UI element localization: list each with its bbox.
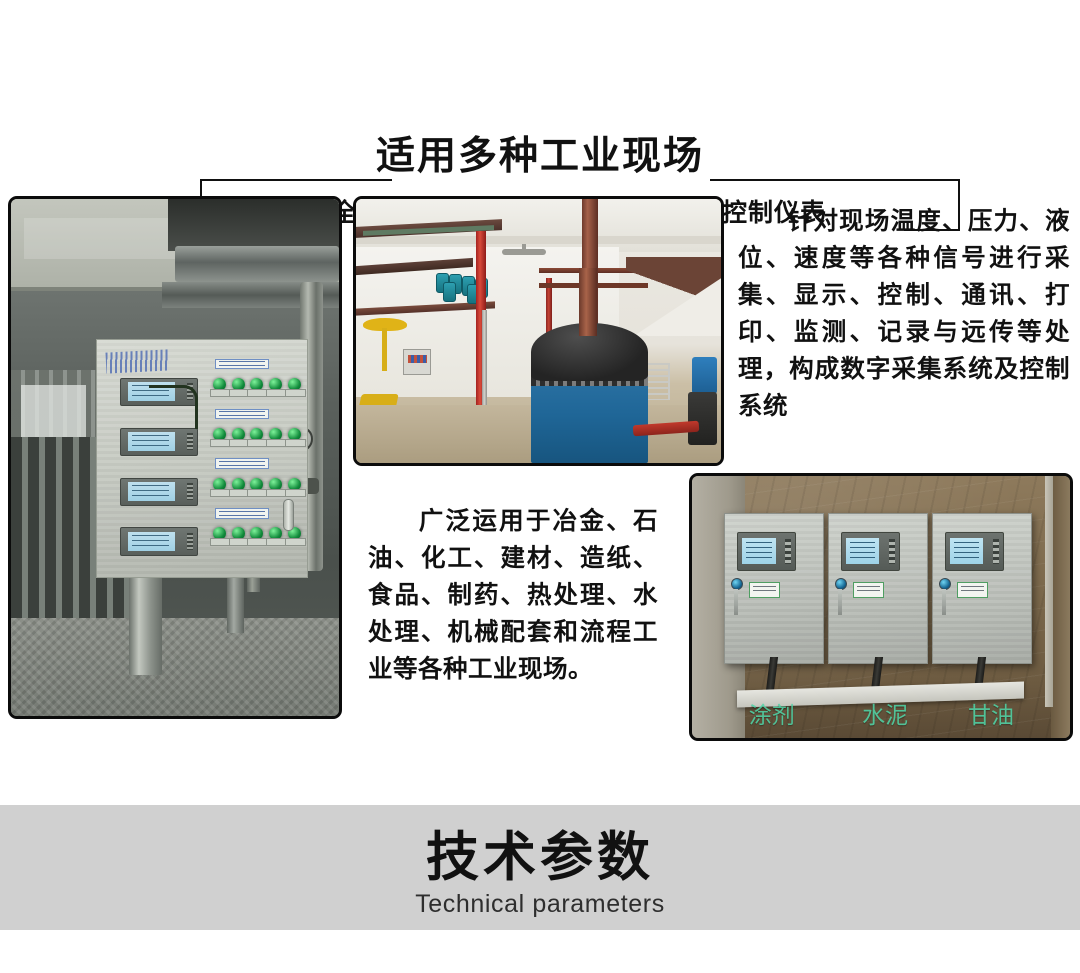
p1-indicator-lamp: [232, 527, 245, 540]
p1-handwritten-mark: [105, 350, 169, 375]
p3-paperless-recorder: [841, 532, 900, 571]
p1-indicator-lamp: [250, 378, 263, 391]
p3-chalk-text-middle: 水泥: [862, 696, 908, 730]
p1-indicator-lamp: [250, 478, 263, 491]
middle-description-text: 广泛运用于冶金、石油、化工、建材、造纸、食品、制药、热处理、水处理、机械配套和流…: [368, 508, 658, 683]
p3-right-wall-edge: [1051, 476, 1070, 738]
p2-junction-box: [403, 349, 431, 375]
p3-paperless-recorder: [945, 532, 1004, 571]
p2-ceiling-beam: [356, 236, 721, 244]
middle-description-paragraph: 广泛运用于冶金、石油、化工、建材、造纸、食品、制药、热处理、水处理、机械配套和流…: [368, 503, 658, 688]
p3-control-cabinet-3: [932, 513, 1032, 664]
p1-indicator-lamp: [288, 478, 301, 491]
tech-parameters-banner: 技术参数 Technical parameters: [0, 805, 1080, 930]
p1-indicator-lamp: [250, 428, 263, 441]
p1-nameplate-2: [215, 409, 269, 420]
p1-nameplate-3: [215, 458, 269, 469]
p3-right-post: [1045, 476, 1053, 707]
p3-key-lock-icon: [731, 578, 743, 590]
p3-key-lock-icon: [835, 578, 847, 590]
p1-lcd-instrument-3: [120, 478, 198, 506]
p3-cabinet-label: [957, 582, 988, 597]
p2-reactor-stack: [579, 268, 597, 337]
p1-indicator-lamp: [213, 527, 226, 540]
photo-chemical-plant-image: [356, 199, 721, 463]
p3-chalk-text-left: 涂剂: [749, 696, 795, 730]
p3-paperless-recorder: [737, 532, 796, 571]
p1-horizontal-pipe: [175, 246, 339, 282]
photo-panel-cabinet: [8, 196, 342, 719]
p1-indicator-lamp: [213, 478, 226, 491]
p1-nameplate-1: [215, 359, 269, 370]
p1-nameplate-4: [215, 508, 269, 519]
p1-cable: [149, 385, 198, 429]
p1-indicator-lamp: [213, 428, 226, 441]
p2-ceiling-fan-icon: [502, 249, 546, 255]
p1-indicator-lamp: [288, 378, 301, 391]
p2-shower-stem: [382, 328, 387, 370]
p2-valve-cluster: [436, 273, 494, 299]
right-description-text: 针对现场温度、压力、液位、速度等各种信号进行采集、显示、控制、通讯、打印、监测、…: [738, 208, 1070, 420]
photo-chemical-plant: [353, 196, 724, 466]
p1-cabinet-handle: [283, 499, 294, 531]
p3-cabinet-label: [749, 582, 780, 597]
p3-control-cabinet-2: [828, 513, 928, 664]
p1-indicator-lamp: [269, 527, 282, 540]
p1-stainless-cabinet: [96, 339, 308, 579]
photo-wall-cabinets: 涂剂 水泥 甘油: [689, 473, 1073, 741]
p3-cabinet-label: [853, 582, 884, 597]
p2-black-drum: [688, 392, 717, 445]
p1-lcd-instrument-4: [120, 527, 198, 555]
p2-blue-drum: [692, 357, 718, 394]
p3-chalk-text-right: 甘油: [968, 696, 1014, 730]
p1-indicator-lamp: [232, 428, 245, 441]
p1-lcd-instrument-2: [120, 428, 198, 456]
p1-indicator-lamp: [232, 378, 245, 391]
p1-indicator-lamp: [232, 478, 245, 491]
p3-control-cabinet-1: [724, 513, 824, 664]
p1-indicator-lamp: [288, 428, 301, 441]
p1-indicator-lamp: [213, 378, 226, 391]
p1-indicator-lamp: [269, 478, 282, 491]
photo-panel-cabinet-image: [11, 199, 339, 716]
p1-indicator-lamp: [269, 428, 282, 441]
banner-title-en: Technical parameters: [0, 889, 1080, 919]
p1-indicator-lamp: [250, 527, 263, 540]
photo-wall-cabinets-image: 涂剂 水泥 甘油: [692, 476, 1070, 738]
p1-checker-plate-floor: [11, 618, 339, 716]
right-description-paragraph: 针对现场温度、压力、液位、速度等各种信号进行采集、显示、控制、通讯、打印、监测、…: [738, 203, 1070, 425]
p3-key-lock-icon: [939, 578, 951, 590]
p1-dark-ceiling: [168, 199, 339, 251]
banner-title-cn: 技术参数: [0, 828, 1080, 888]
p1-indicator-lamp: [269, 378, 282, 391]
page-title: 适用多种工业现场: [0, 134, 1080, 180]
page-header: 适用多种工业现场 集诸多全新功能于一身的新一代液晶显示控制仪表: [0, 62, 1080, 187]
page-root: 适用多种工业现场 集诸多全新功能于一身的新一代液晶显示控制仪表: [0, 0, 1080, 973]
